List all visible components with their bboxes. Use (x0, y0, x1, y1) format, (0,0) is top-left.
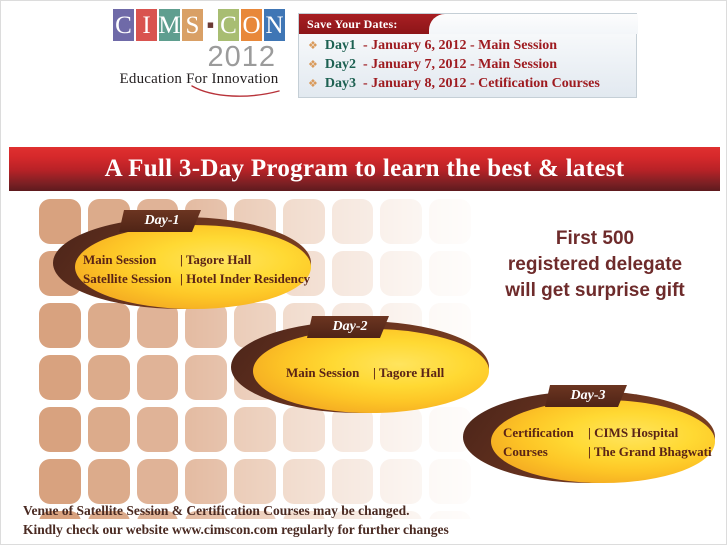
tile-row (39, 459, 471, 504)
background-tile (137, 303, 179, 348)
background-tile (137, 407, 179, 452)
date-row-day3: ❖ Day3 - January 8, 2012 - Cetification … (308, 76, 638, 95)
background-tile (332, 199, 374, 244)
day3-session-name-1: Certification (503, 423, 588, 442)
date-day-label-3: Day3 (325, 76, 356, 92)
logo-tile-c2: C (218, 9, 239, 41)
day1-session-name-2: Satellite Session (83, 269, 180, 288)
date-detail-2: - January 7, 2012 - Main Session (363, 57, 557, 73)
background-tile (39, 407, 81, 452)
day2-session-row-1: Main Session | Tagore Hall (286, 363, 444, 382)
dates-title-notch (429, 14, 638, 34)
background-tile (429, 199, 471, 244)
dates-title: Save Your Dates: (307, 17, 398, 32)
save-your-dates-box: Save Your Dates: ❖ Day1 - January 6, 201… (298, 13, 637, 98)
background-tile (185, 303, 227, 348)
logo-tagline: Education For Innovation (113, 71, 285, 88)
day3-ellipse: Day-3 Certification | CIMS Hospital Cour… (463, 391, 715, 483)
day1-session-venue-1: | Tagore Hall (180, 250, 251, 269)
background-tile (283, 459, 325, 504)
logo-tile-n: N (264, 9, 285, 41)
program-banner-text: A Full 3-Day Program to learn the best &… (105, 155, 625, 183)
diamond-bullet-icon: ❖ (308, 60, 318, 71)
footer-line-2: Kindly check our website www.cimscon.com… (23, 520, 623, 539)
background-tile (137, 459, 179, 504)
day2-session-name-1: Main Session (286, 363, 373, 382)
promo-offer-text: First 500 registered delegate will get s… (475, 226, 715, 304)
logo-tile-o: O (241, 9, 262, 41)
date-detail-1: - January 6, 2012 - Main Session (363, 38, 557, 54)
day2-session-venue-1: | Tagore Hall (373, 363, 444, 382)
promo-line-3: will get surprise gift (475, 278, 715, 304)
background-tile (380, 199, 422, 244)
diamond-bullet-icon: ❖ (308, 41, 318, 52)
background-tile (88, 407, 130, 452)
logo-separator-dot: ▪ (205, 9, 216, 41)
day1-session-venue-2: | Hotel Inder Residency (180, 269, 310, 288)
swoosh-icon (191, 85, 281, 99)
logo-tile-i: I (136, 9, 157, 41)
background-tile (380, 459, 422, 504)
background-tile (185, 459, 227, 504)
day3-session-row-2: Courses | The Grand Bhagwati (503, 442, 712, 461)
day3-session-venue-1: | CIMS Hospital (588, 423, 678, 442)
poster-canvas: C I M S ▪ C O N 2012 Education For Innov… (0, 0, 727, 545)
day2-ellipse: Day-2 Main Session | Tagore Hall (231, 321, 489, 413)
day1-session-name-1: Main Session (83, 250, 180, 269)
program-banner: A Full 3-Day Program to learn the best &… (9, 147, 720, 191)
background-tile (283, 407, 325, 452)
date-day-label-1: Day1 (325, 38, 356, 54)
footer-disclaimer: Venue of Satellite Session & Certificati… (23, 501, 623, 539)
background-tile (185, 355, 227, 400)
tile-row (39, 407, 471, 452)
day1-tab-label: Day-1 (145, 213, 180, 229)
logo-tile-c1: C (113, 9, 134, 41)
background-tile (380, 407, 422, 452)
promo-line-1: First 500 (475, 226, 715, 252)
background-tile (429, 251, 471, 296)
cimscon-logo: C I M S ▪ C O N 2012 Education For Innov… (113, 9, 288, 88)
day3-session-venue-2: | The Grand Bhagwati (588, 442, 712, 461)
day2-tab-label: Day-2 (333, 319, 368, 335)
day1-session-row-1: Main Session | Tagore Hall (83, 250, 310, 269)
day2-tab: Day-2 (307, 316, 389, 338)
day1-session-list: Main Session | Tagore Hall Satellite Ses… (83, 250, 310, 288)
day3-tab: Day-3 (545, 385, 627, 407)
background-tile (332, 251, 374, 296)
logo-tile-s: S (182, 9, 203, 41)
background-tile (332, 407, 374, 452)
background-tile (88, 355, 130, 400)
date-day-label-2: Day2 (325, 57, 356, 73)
background-tile (88, 459, 130, 504)
background-tile (185, 407, 227, 452)
background-tile (39, 355, 81, 400)
footer-line-1: Venue of Satellite Session & Certificati… (23, 501, 623, 520)
logo-letter-tiles: C I M S ▪ C O N (113, 9, 288, 41)
day3-tab-label: Day-3 (571, 388, 606, 404)
day3-session-row-1: Certification | CIMS Hospital (503, 423, 712, 442)
background-tile (380, 251, 422, 296)
dates-list: ❖ Day1 - January 6, 2012 - Main Session … (299, 36, 638, 95)
day1-session-row-2: Satellite Session | Hotel Inder Residenc… (83, 269, 310, 288)
background-tile (88, 303, 130, 348)
day2-session-list: Main Session | Tagore Hall (286, 363, 444, 382)
background-tile (234, 407, 276, 452)
background-tile (39, 303, 81, 348)
date-detail-3: - January 8, 2012 - Cetification Courses (363, 76, 600, 92)
day3-session-list: Certification | CIMS Hospital Courses | … (503, 423, 712, 461)
background-tile (39, 459, 81, 504)
date-row-day2: ❖ Day2 - January 7, 2012 - Main Session (308, 57, 638, 76)
promo-line-2: registered delegate (475, 252, 715, 278)
day1-tab: Day-1 (119, 210, 201, 232)
day3-session-name-2: Courses (503, 442, 588, 461)
background-tile (137, 355, 179, 400)
diamond-bullet-icon: ❖ (308, 79, 318, 90)
header-region: C I M S ▪ C O N 2012 Education For Innov… (1, 1, 727, 123)
logo-tile-m: M (159, 9, 180, 41)
day1-ellipse: Day-1 Main Session | Tagore Hall Satelli… (53, 217, 311, 309)
background-tile (234, 459, 276, 504)
date-row-day1: ❖ Day1 - January 6, 2012 - Main Session (308, 38, 638, 57)
background-tile (332, 459, 374, 504)
logo-year: 2012 (113, 42, 276, 72)
